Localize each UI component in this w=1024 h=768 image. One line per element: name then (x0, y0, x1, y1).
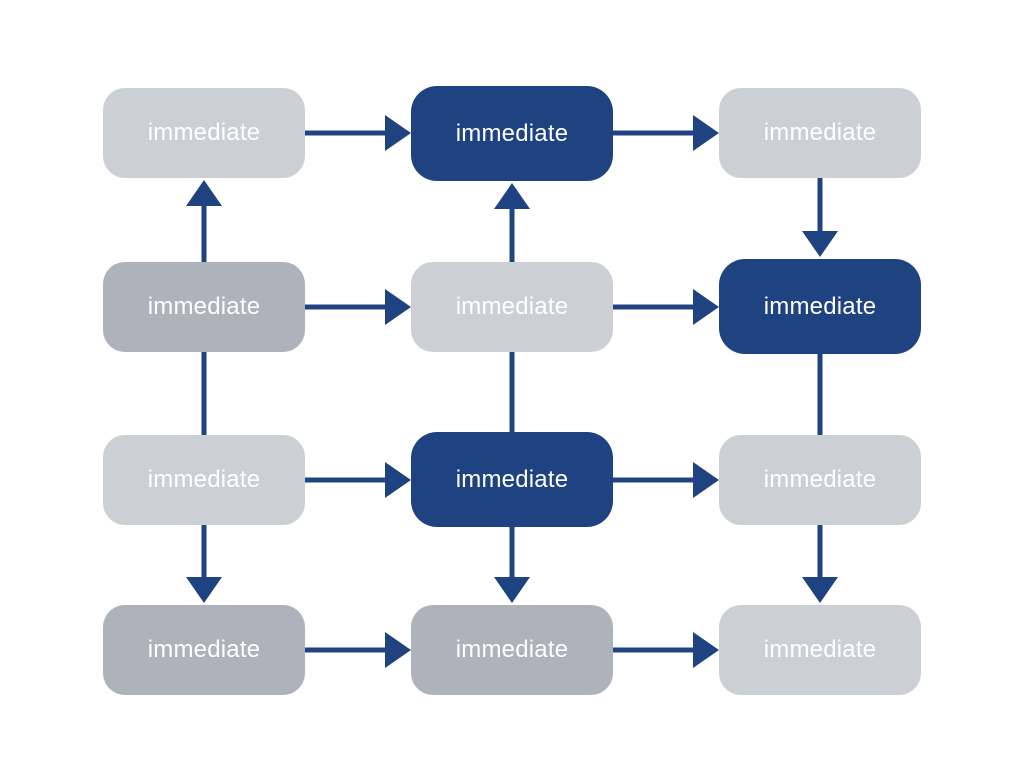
node-r3c1[interactable]: immediate (103, 435, 305, 525)
node-r4c1[interactable]: immediate (103, 605, 305, 695)
node-r3c2[interactable]: immediate (411, 432, 613, 527)
node-r2c3[interactable]: immediate (719, 259, 921, 354)
arrowhead-right-icon (385, 462, 411, 498)
edge-down (802, 178, 838, 257)
node-r2c2[interactable]: immediate (411, 262, 613, 352)
edge-right (305, 289, 411, 325)
arrowhead-down-icon (186, 577, 222, 603)
edge-down (186, 525, 222, 603)
arrowhead-right-icon (693, 462, 719, 498)
arrowhead-down-icon (802, 577, 838, 603)
arrowhead-right-icon (385, 115, 411, 151)
arrowhead-up-icon (186, 180, 222, 206)
node-label: immediate (764, 468, 877, 492)
edge-down (494, 527, 530, 603)
arrowhead-right-icon (693, 289, 719, 325)
node-r3c3[interactable]: immediate (719, 435, 921, 525)
edge-right (305, 632, 411, 668)
edge-right (305, 462, 411, 498)
edge-right (305, 115, 411, 151)
arrowhead-right-icon (385, 289, 411, 325)
arrowhead-right-icon (693, 115, 719, 151)
diagram-canvas: immediateimmediateimmediateimmediateimme… (0, 0, 1024, 768)
arrowhead-up-icon (494, 183, 530, 209)
edge-right (613, 289, 719, 325)
node-r1c3[interactable]: immediate (719, 88, 921, 178)
node-label: immediate (456, 468, 569, 492)
node-label: immediate (456, 122, 569, 146)
node-label: immediate (764, 121, 877, 145)
arrowhead-down-icon (494, 577, 530, 603)
edge-right (613, 115, 719, 151)
edge-down (802, 525, 838, 603)
node-label: immediate (456, 295, 569, 319)
edge-up (186, 180, 222, 262)
node-label: immediate (764, 638, 877, 662)
arrowhead-right-icon (385, 632, 411, 668)
arrowhead-down-icon (802, 231, 838, 257)
edge-right (613, 462, 719, 498)
node-r4c2[interactable]: immediate (411, 605, 613, 695)
edge-right (613, 632, 719, 668)
node-label: immediate (148, 295, 261, 319)
node-r1c1[interactable]: immediate (103, 88, 305, 178)
node-r4c3[interactable]: immediate (719, 605, 921, 695)
arrowhead-right-icon (693, 632, 719, 668)
edge-up (494, 183, 530, 262)
node-label: immediate (148, 121, 261, 145)
node-label: immediate (764, 295, 877, 319)
node-r1c2[interactable]: immediate (411, 86, 613, 181)
node-r2c1[interactable]: immediate (103, 262, 305, 352)
node-label: immediate (148, 638, 261, 662)
node-label: immediate (148, 468, 261, 492)
node-label: immediate (456, 638, 569, 662)
